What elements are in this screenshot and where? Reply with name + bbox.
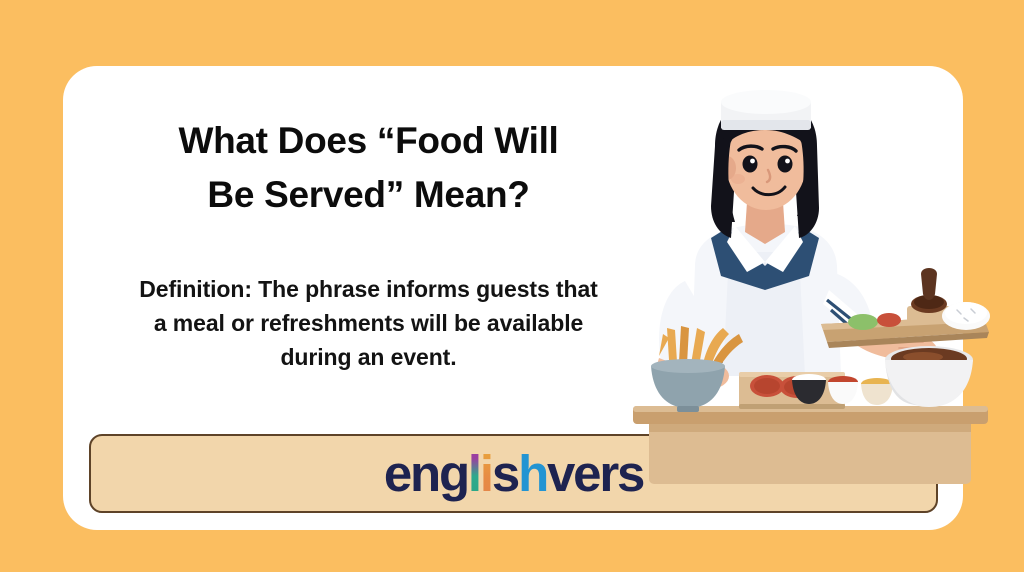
page-title: What Does “Food Will Be Served” Mean? xyxy=(131,114,606,223)
content-card: What Does “Food Will Be Served” Mean? De… xyxy=(63,66,963,530)
headline-line-1: What Does “Food Will xyxy=(178,120,558,161)
wordmark-h: h xyxy=(518,448,547,499)
brand-wordmark: englishvers xyxy=(384,448,643,499)
waitress-illustration xyxy=(623,76,1003,496)
headline-line-2: Be Served” Mean? xyxy=(207,174,529,215)
wordmark-s: s xyxy=(492,448,518,499)
wordmark-i: i xyxy=(480,448,492,499)
wordmark-eng: eng xyxy=(384,448,468,499)
poster-canvas: What Does “Food Will Be Served” Mean? De… xyxy=(0,0,1024,572)
text-column: What Does “Food Will Be Served” Mean? De… xyxy=(131,114,606,374)
wordmark-l: l xyxy=(468,448,480,499)
definition-text: Definition: The phrase informs guests th… xyxy=(131,272,606,374)
